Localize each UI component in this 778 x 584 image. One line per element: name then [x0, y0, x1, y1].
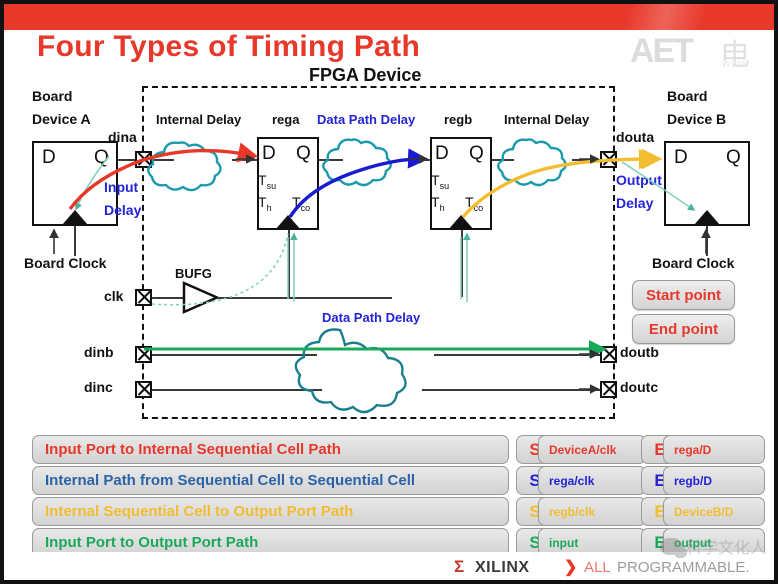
doutb-port — [600, 346, 617, 363]
data-path-delay-top-label: Data Path Delay — [317, 112, 415, 127]
clk-wire-out — [217, 297, 392, 299]
regb-clock-feed — [461, 230, 463, 297]
output-delay-label-2: Delay — [616, 195, 653, 211]
end-point-callout[interactable]: End point — [632, 314, 735, 344]
start-name-cell[interactable]: DeviceA/clk — [538, 435, 646, 464]
dinb-wire — [152, 354, 317, 356]
clk-port — [135, 289, 152, 306]
slide-canvas: Four Types of Timing Path AET 电 www FPGA… — [0, 0, 778, 584]
start-point-callout[interactable]: Start point — [632, 280, 735, 310]
xilinx-sigma-icon: Σ — [454, 557, 464, 577]
watermark-text: 科学文化人 — [686, 534, 766, 558]
end-name-cell[interactable]: regb/D — [663, 466, 765, 495]
dina-port — [135, 151, 152, 168]
path-description-row[interactable]: Internal Path from Sequential Cell to Se… — [32, 466, 509, 495]
rega-d-wire — [232, 159, 257, 161]
board-clock-left-label: Board Clock — [24, 255, 106, 271]
regb-clock-triangle — [448, 215, 474, 230]
path-description-row[interactable]: Internal Sequential Cell to Output Port … — [32, 497, 509, 526]
aet-logo-www: www — [722, 58, 749, 70]
dinc-port — [135, 381, 152, 398]
aet-logo-text: AET — [630, 32, 692, 71]
rega-label: rega — [272, 112, 299, 127]
data-path-delay-bottom-label: Data Path Delay — [322, 310, 420, 325]
device-a-d-pin: D — [42, 147, 56, 169]
dina-wire-right — [152, 159, 174, 161]
regb-d-pin: D — [435, 143, 449, 165]
bufg-label: BUFG — [175, 266, 212, 281]
fpga-device-boundary — [142, 86, 615, 419]
path-description-row[interactable]: Input Port to Internal Sequential Cell P… — [32, 435, 509, 464]
regb-q-pin: Q — [469, 143, 484, 165]
bar-sheen — [522, 4, 778, 30]
rega-tco-label: Tco — [292, 194, 310, 213]
regb-d-wire — [406, 159, 430, 161]
internal-delay-right-label: Internal Delay — [504, 112, 589, 127]
douta-wire-in — [572, 159, 602, 161]
regb-tco-label: Tco — [465, 194, 483, 213]
footer-programmable-text: PROGRAMMABLE. — [617, 559, 750, 576]
rega-d-pin: D — [262, 143, 276, 165]
start-name-cell[interactable]: rega/clk — [538, 466, 646, 495]
douta-port — [600, 151, 617, 168]
xilinx-wordmark: XILINX — [475, 559, 530, 577]
device-a-clock-wire — [74, 226, 76, 256]
aet-logo: AET 电 www — [630, 32, 770, 74]
device-a-q-pin: Q — [94, 147, 109, 169]
dinc-label: dinc — [84, 379, 113, 395]
dinb-port — [135, 346, 152, 363]
regb-tsu-label: Tsu — [431, 172, 449, 191]
regb-q-wire — [492, 159, 514, 161]
douta-label: douta — [616, 129, 654, 145]
dina-label: dina — [108, 129, 137, 145]
rega-q-pin: Q — [296, 143, 311, 165]
device-b-q-pin: Q — [726, 147, 741, 169]
rega-clock-triangle — [275, 215, 301, 230]
internal-delay-left-label: Internal Delay — [156, 112, 241, 127]
dina-wire-left — [118, 159, 136, 161]
end-name-cell[interactable]: rega/D — [663, 435, 765, 464]
page-title: Four Types of Timing Path — [37, 30, 420, 64]
doutb-label: doutb — [620, 344, 659, 360]
end-name-cell[interactable]: DeviceB/D — [663, 497, 765, 526]
doutb-wire — [434, 354, 602, 356]
input-delay-label-2: Delay — [104, 202, 141, 218]
clk-label: clk — [104, 288, 123, 304]
dinc-wire — [152, 389, 322, 391]
footer-all-text: ALL — [584, 559, 611, 576]
board-left-label-2: Device A — [32, 111, 91, 127]
doutc-label: doutc — [620, 379, 658, 395]
board-left-label-1: Board — [32, 88, 72, 104]
doutc-port — [600, 381, 617, 398]
device-b-clock-wire — [706, 226, 708, 256]
wechat-watermark: 科学文化人 — [660, 534, 766, 558]
regb-th-label: Th — [431, 194, 445, 213]
rega-tsu-label: Tsu — [258, 172, 276, 191]
rega-q-wire — [319, 159, 343, 161]
fpga-device-title: FPGA Device — [309, 65, 421, 86]
board-right-label-1: Board — [667, 88, 707, 104]
rega-clock-feed — [288, 230, 290, 297]
device-b-clock-triangle — [694, 210, 720, 225]
doutc-wire — [422, 389, 602, 391]
board-right-label-2: Device B — [667, 111, 726, 127]
device-b-d-pin: D — [674, 147, 688, 169]
wechat-icon — [660, 538, 682, 555]
start-name-cell[interactable]: regb/clk — [538, 497, 646, 526]
input-delay-label-1: Input — [104, 179, 138, 195]
output-delay-label-1: Output — [616, 172, 662, 188]
chevron-right-icon: ❯ — [564, 557, 577, 577]
device-a-clock-triangle — [62, 210, 88, 225]
top-red-bar — [4, 4, 778, 30]
clk-wire-in — [152, 297, 184, 299]
rega-th-label: Th — [258, 194, 272, 213]
regb-label: regb — [444, 112, 472, 127]
dinb-label: dinb — [84, 344, 114, 360]
board-clock-right-label: Board Clock — [652, 255, 734, 271]
